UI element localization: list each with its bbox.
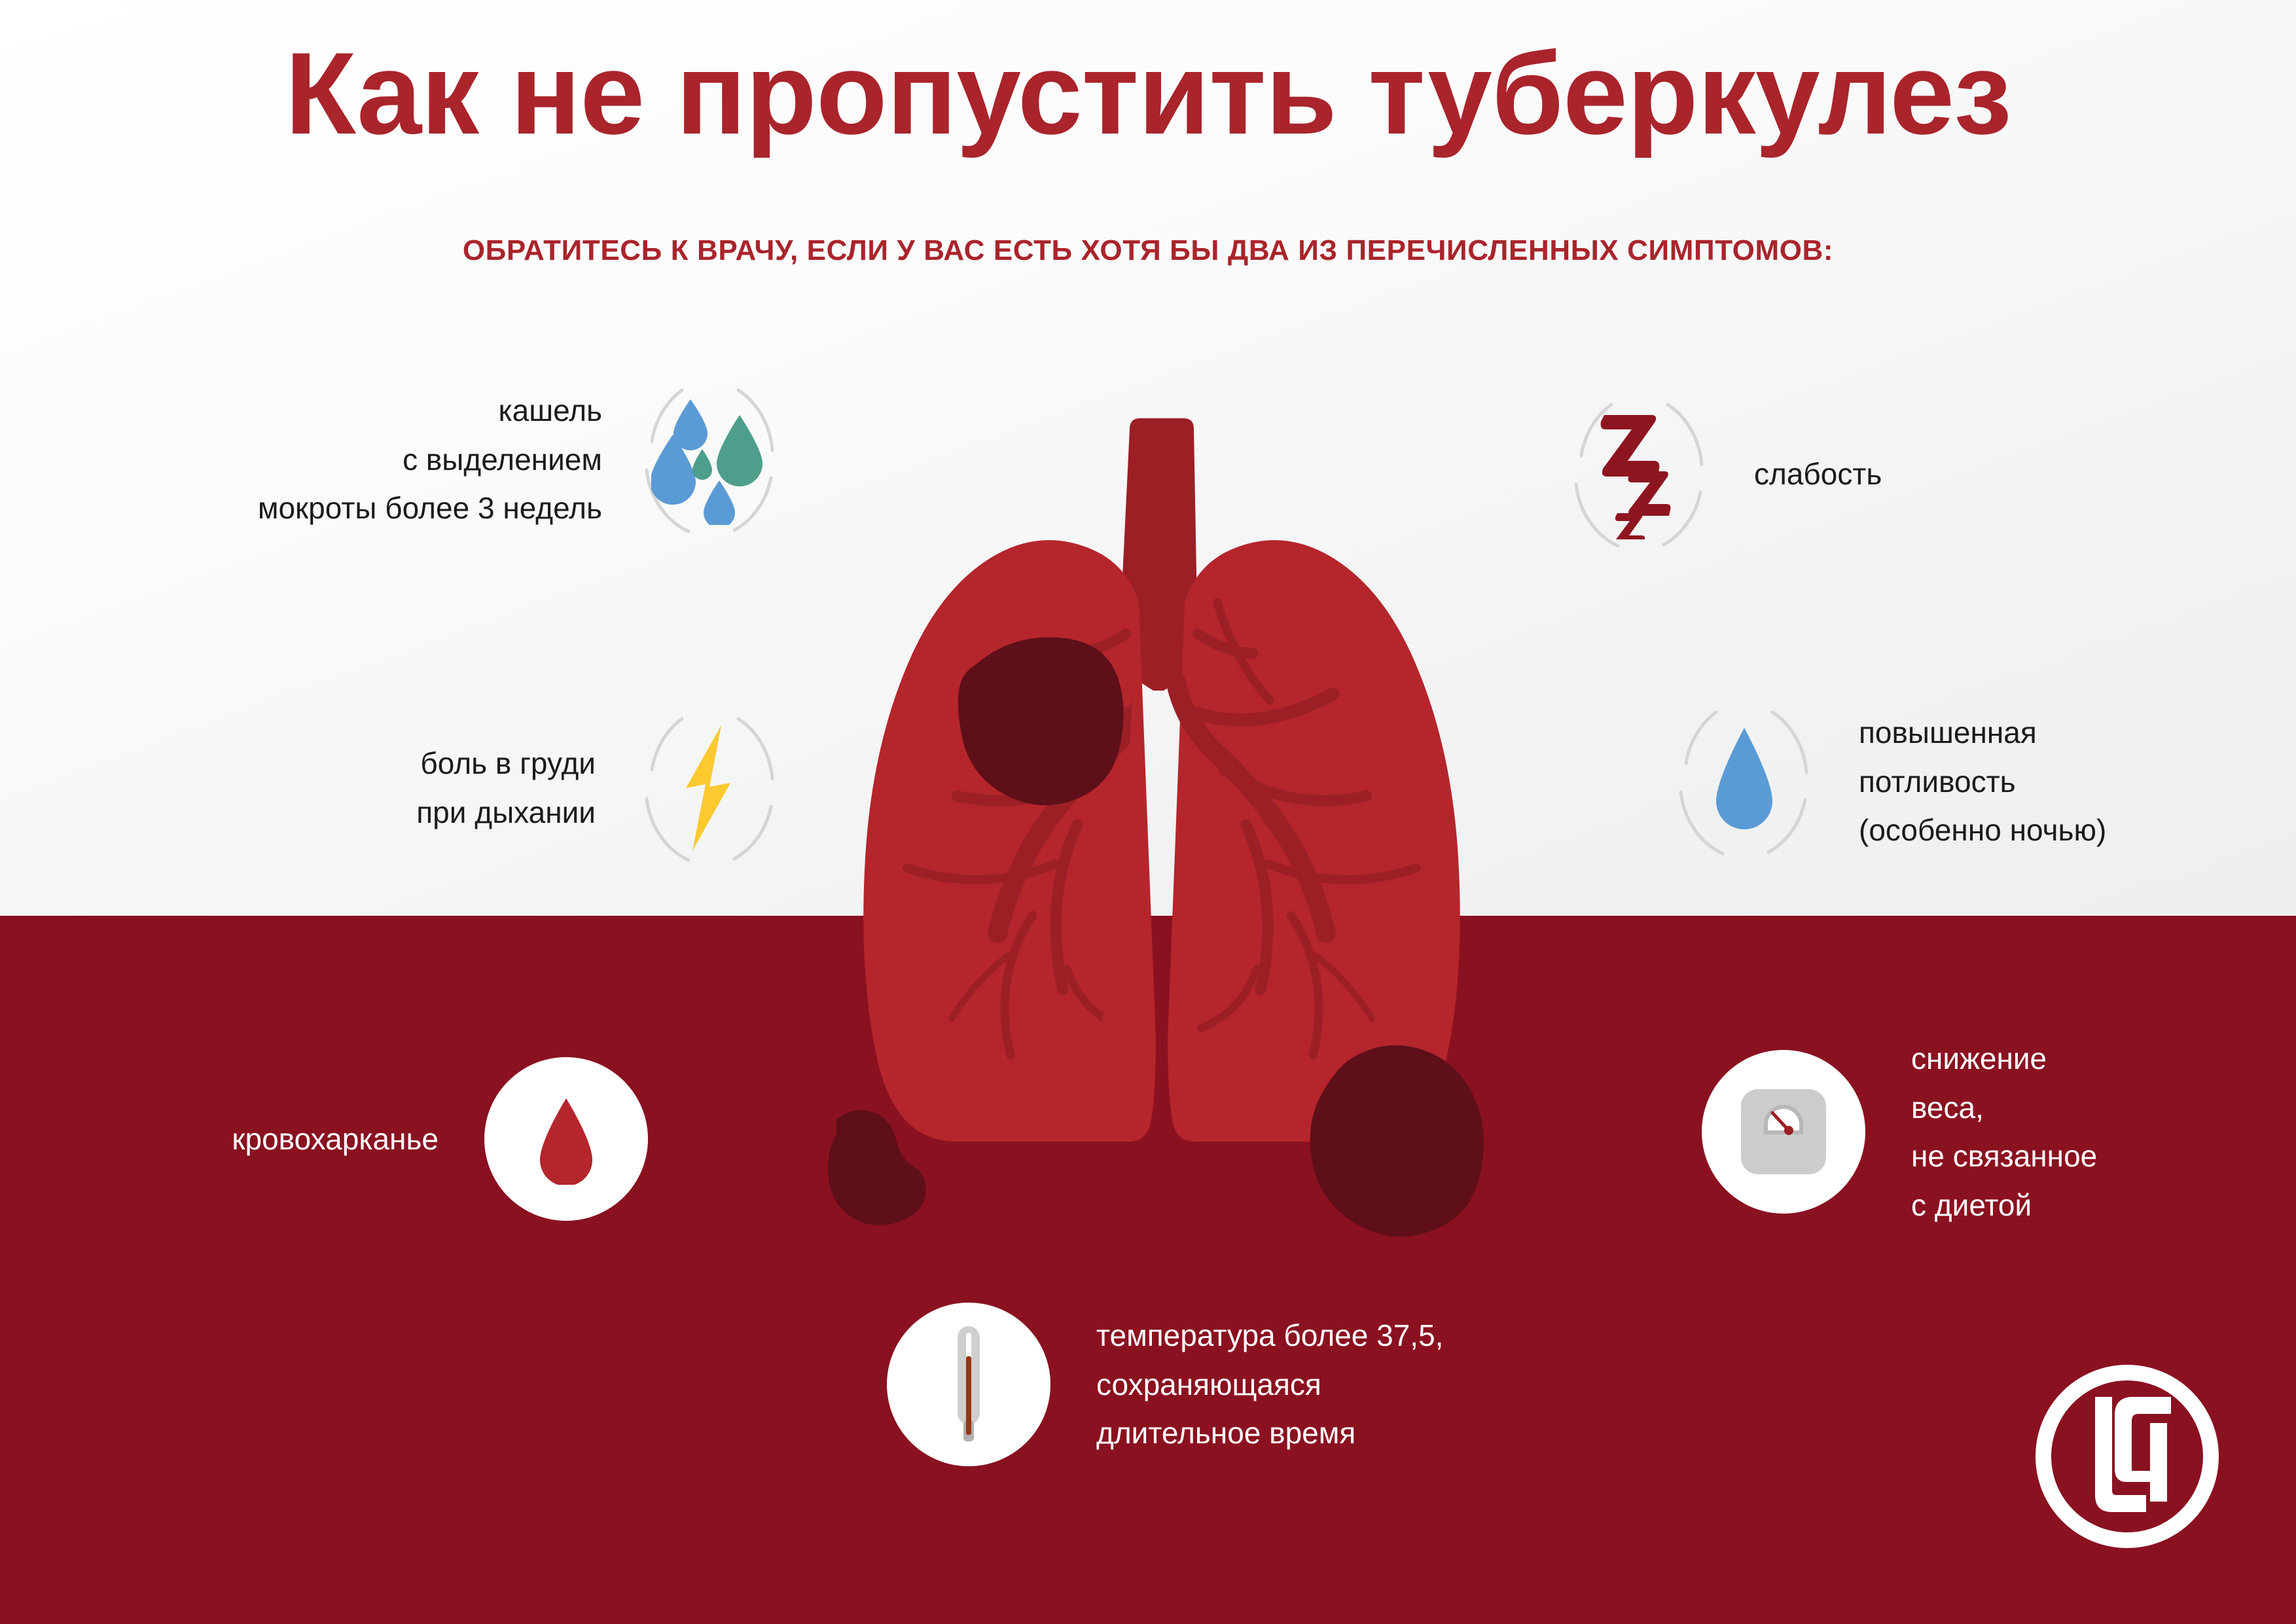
symptom-cough: кашель с выделением мокроты более 3 неде…	[118, 378, 779, 541]
poster-root: Как не пропустить туберкулез ОБРАТИТЕСЬ …	[0, 0, 2296, 1624]
symptom-chest-pain: боль в груди при дыхании	[151, 707, 779, 869]
organization-logo	[2032, 1362, 2222, 1551]
symptom-fever-label: температура более 37,5, сохраняющаяся дл…	[1096, 1311, 1443, 1458]
thermometer-icon	[887, 1303, 1050, 1466]
page-title: Как не пропустить туберкулез	[0, 33, 2296, 155]
bolt-art	[674, 723, 746, 854]
droplets-icon	[641, 378, 779, 541]
page-subtitle: ОБРАТИТЕСЬ К ВРАЧУ, ЕСЛИ У ВАС ЕСТЬ ХОТЯ…	[0, 234, 2296, 267]
blood-drop-icon	[484, 1057, 648, 1221]
drop-art	[1708, 723, 1780, 840]
droplets-art	[651, 394, 769, 525]
symptom-weakness-label: слабость	[1754, 450, 1882, 499]
symptom-fever: температура более 37,5, сохраняющаяся дл…	[887, 1303, 1443, 1466]
sweat-drop-icon	[1676, 700, 1813, 863]
symptom-chest-pain-label: боль в груди при дыхании	[416, 739, 596, 837]
lungs-illustration	[759, 406, 1564, 1257]
blood-drop-art	[533, 1093, 599, 1185]
weight-scale-icon	[1702, 1050, 1865, 1214]
zzz-art	[1594, 408, 1685, 539]
symptom-weight-loss: снижение веса, не связанное с диетой	[1702, 1034, 2097, 1229]
symptom-hemoptysis: кровохарканье	[151, 1057, 648, 1221]
scale-art	[1738, 1087, 1829, 1177]
symptom-sweating-label: повышенная потливость (особенно ночью)	[1859, 708, 2106, 855]
symptom-weight-loss-label: снижение веса, не связанное с диетой	[1911, 1034, 2097, 1229]
thermometer-art	[946, 1322, 992, 1447]
symptom-sweating: повышенная потливость (особенно ночью)	[1676, 700, 2106, 863]
lightning-bolt-icon	[641, 707, 779, 869]
sleep-zzz-icon	[1571, 393, 1708, 555]
symptom-hemoptysis-label: кровохарканье	[232, 1115, 439, 1164]
symptom-cough-label: кашель с выделением мокроты более 3 неде…	[258, 386, 602, 533]
symptom-weakness: слабость	[1571, 393, 1882, 555]
